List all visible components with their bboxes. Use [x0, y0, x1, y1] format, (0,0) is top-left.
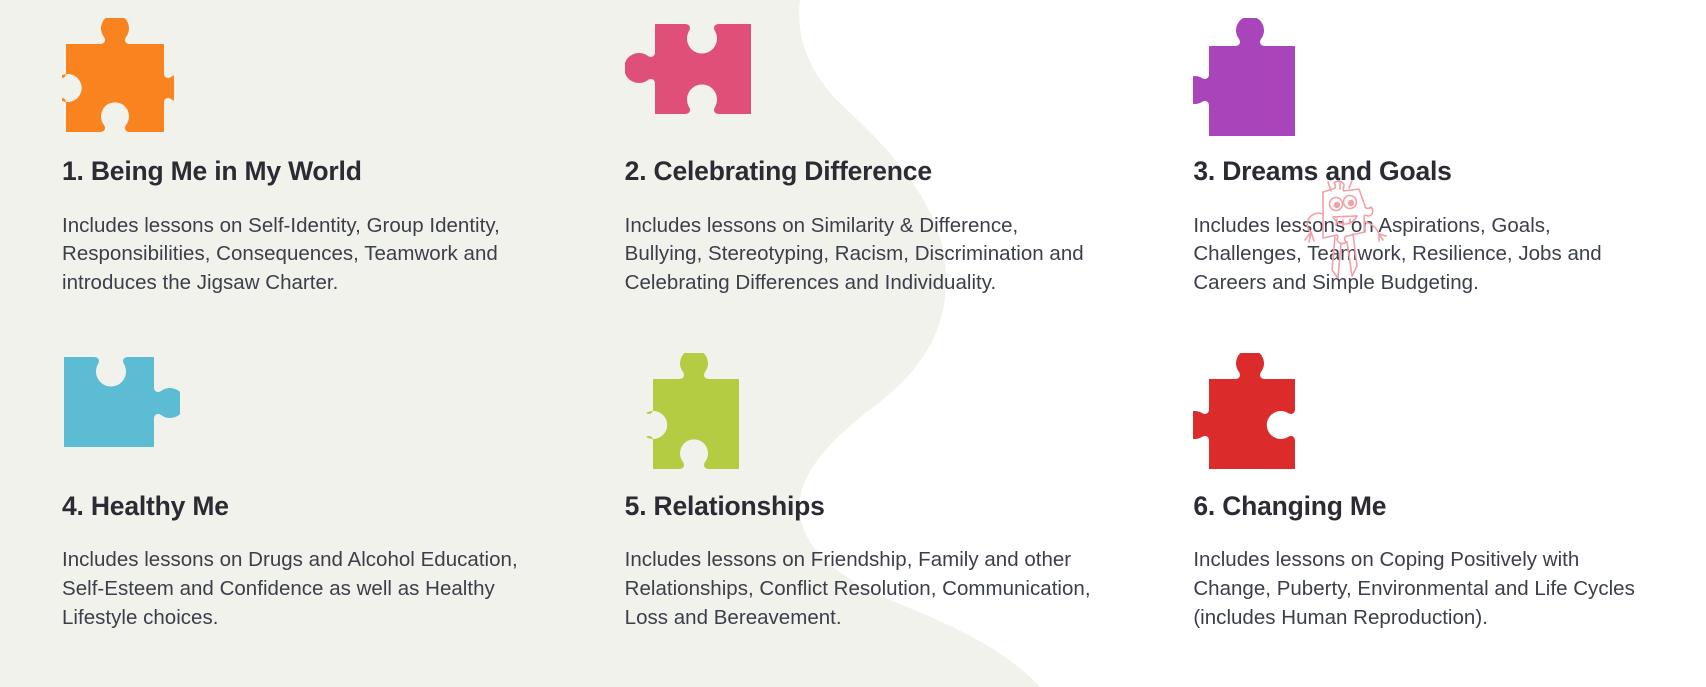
lesson-card-being-me-in-my-world[interactable]: 1. Being Me in My World Includes lessons… [0, 18, 569, 353]
puzzle-piece-shape [1193, 353, 1295, 469]
lesson-card-relationships[interactable]: 5. Relationships Includes lessons on Fri… [569, 353, 1138, 687]
card-description: Includes lessons on Friendship, Family a… [625, 546, 1092, 632]
puzzle-piece-icon [62, 353, 180, 451]
puzzle-piece-wrap [1193, 353, 1660, 489]
card-title: 2. Celebrating Difference [625, 156, 1092, 188]
puzzle-piece-wrap [1193, 18, 1660, 154]
card-description: Includes lessons on Similarity & Differe… [625, 212, 1092, 298]
puzzle-piece-icon [1193, 353, 1295, 471]
puzzle-piece-shape [1193, 18, 1295, 136]
lesson-card-grid: 1. Being Me in My World Includes lessons… [0, 0, 1706, 687]
puzzle-piece-icon [62, 18, 174, 136]
puzzle-piece-shape [64, 357, 180, 447]
puzzle-piece-icon [625, 353, 739, 471]
puzzle-piece-shape [625, 24, 751, 114]
puzzle-piece-wrap [625, 18, 1092, 154]
card-title: 6. Changing Me [1193, 491, 1660, 523]
lesson-card-changing-me[interactable]: 6. Changing Me Includes lessons on Copin… [1137, 353, 1706, 687]
card-title: 3. Dreams and Goals [1193, 156, 1660, 188]
puzzle-piece-icon [625, 18, 751, 118]
card-title: 4. Healthy Me [62, 491, 523, 523]
puzzle-piece-shape [646, 353, 739, 469]
card-title: 5. Relationships [625, 491, 1092, 523]
card-description: Includes lessons on Drugs and Alcohol Ed… [62, 546, 523, 632]
lesson-card-celebrating-difference[interactable]: 2. Celebrating Difference Includes lesso… [569, 18, 1138, 353]
puzzle-piece-wrap [62, 18, 523, 154]
card-title: 1. Being Me in My World [62, 156, 523, 188]
puzzle-piece-wrap [62, 353, 523, 489]
card-description: Includes lessons on Aspirations, Goals, … [1193, 212, 1660, 298]
puzzle-piece-shape [62, 18, 174, 132]
card-description: Includes lessons on Coping Positively wi… [1193, 546, 1660, 632]
puzzle-piece-icon [1193, 18, 1295, 138]
lesson-card-healthy-me[interactable]: 4. Healthy Me Includes lessons on Drugs … [0, 353, 569, 687]
card-description: Includes lessons on Self-Identity, Group… [62, 212, 523, 298]
lesson-card-dreams-and-goals[interactable]: 3. Dreams and Goals Includes lessons on … [1137, 18, 1706, 353]
puzzle-piece-wrap [625, 353, 1092, 489]
